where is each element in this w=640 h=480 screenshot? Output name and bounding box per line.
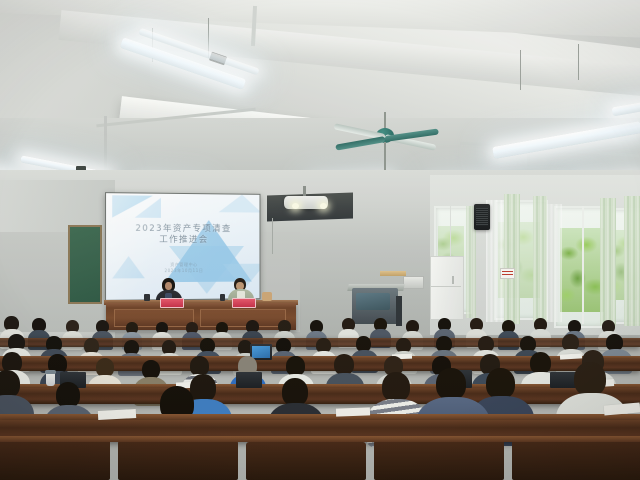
lectern-face-panel — [356, 293, 390, 310]
white-storage-cabinet — [430, 256, 464, 320]
laptop-screen — [252, 346, 270, 358]
bench-seat-back-3 — [246, 442, 366, 480]
desk-edge-nearest — [0, 436, 640, 442]
microphone-right — [220, 294, 225, 301]
paper-handout — [336, 407, 370, 416]
ceiling-fan-center — [330, 112, 440, 168]
head-table-panel-right — [200, 309, 286, 327]
meeting-room-photo: 2023年资产专项清查 工作推进会 资产管理中心 2023年10月11日 — [0, 0, 640, 480]
slide-title-line-1: 2023年资产专项清查 — [106, 224, 259, 236]
tabletop-item — [262, 292, 272, 301]
coffee-cup — [46, 372, 55, 386]
equipment-box — [403, 276, 424, 289]
lectern-stand — [396, 296, 402, 326]
cabinet-seam — [431, 286, 461, 287]
name-placard-left — [160, 298, 184, 308]
slide-title-line-2: 工作推进会 — [106, 235, 259, 246]
curtain-green-2 — [533, 196, 547, 322]
desk-row-2 — [0, 388, 640, 404]
slide-shape-top-left-2 — [135, 198, 161, 218]
cabinet-handle — [452, 276, 454, 284]
laptop-open — [236, 372, 262, 388]
light-hanger-wire-4 — [578, 44, 579, 80]
bench-seat-back-4 — [374, 440, 504, 480]
conduit-pipe-drop — [104, 116, 107, 176]
slide-shape-top-right — [219, 194, 260, 212]
curtain-green-1 — [504, 194, 520, 324]
curtain-green-3 — [600, 198, 616, 326]
microphone-left — [144, 294, 150, 301]
laptop-open — [550, 372, 576, 388]
wall-notice-sign — [500, 268, 515, 279]
green-chalkboard — [68, 225, 102, 304]
slide-title: 2023年资产专项清查 工作推进会 — [106, 224, 259, 246]
projector-lens-secondary-icon — [320, 203, 327, 209]
bench-seat-back-5 — [512, 438, 640, 480]
projector-lens-icon — [292, 203, 299, 209]
projector-pull-cord — [272, 218, 273, 254]
bench-seat-back-1 — [0, 438, 110, 480]
slide-subtitle: 资产管理中心 2023年10月11日 — [106, 262, 259, 275]
curtain-sheer-2 — [546, 204, 562, 322]
name-placard-right — [232, 298, 256, 308]
slide-subtitle-line-2: 2023年10月11日 — [106, 268, 259, 275]
light-hanger-wire-3 — [520, 50, 521, 90]
coffee-cup-lid — [45, 370, 56, 374]
window-mullion-right — [582, 206, 584, 324]
curtain-green-4 — [624, 196, 640, 326]
speaker-grill-icon — [476, 208, 488, 226]
bench-seat-back-2 — [118, 440, 238, 480]
